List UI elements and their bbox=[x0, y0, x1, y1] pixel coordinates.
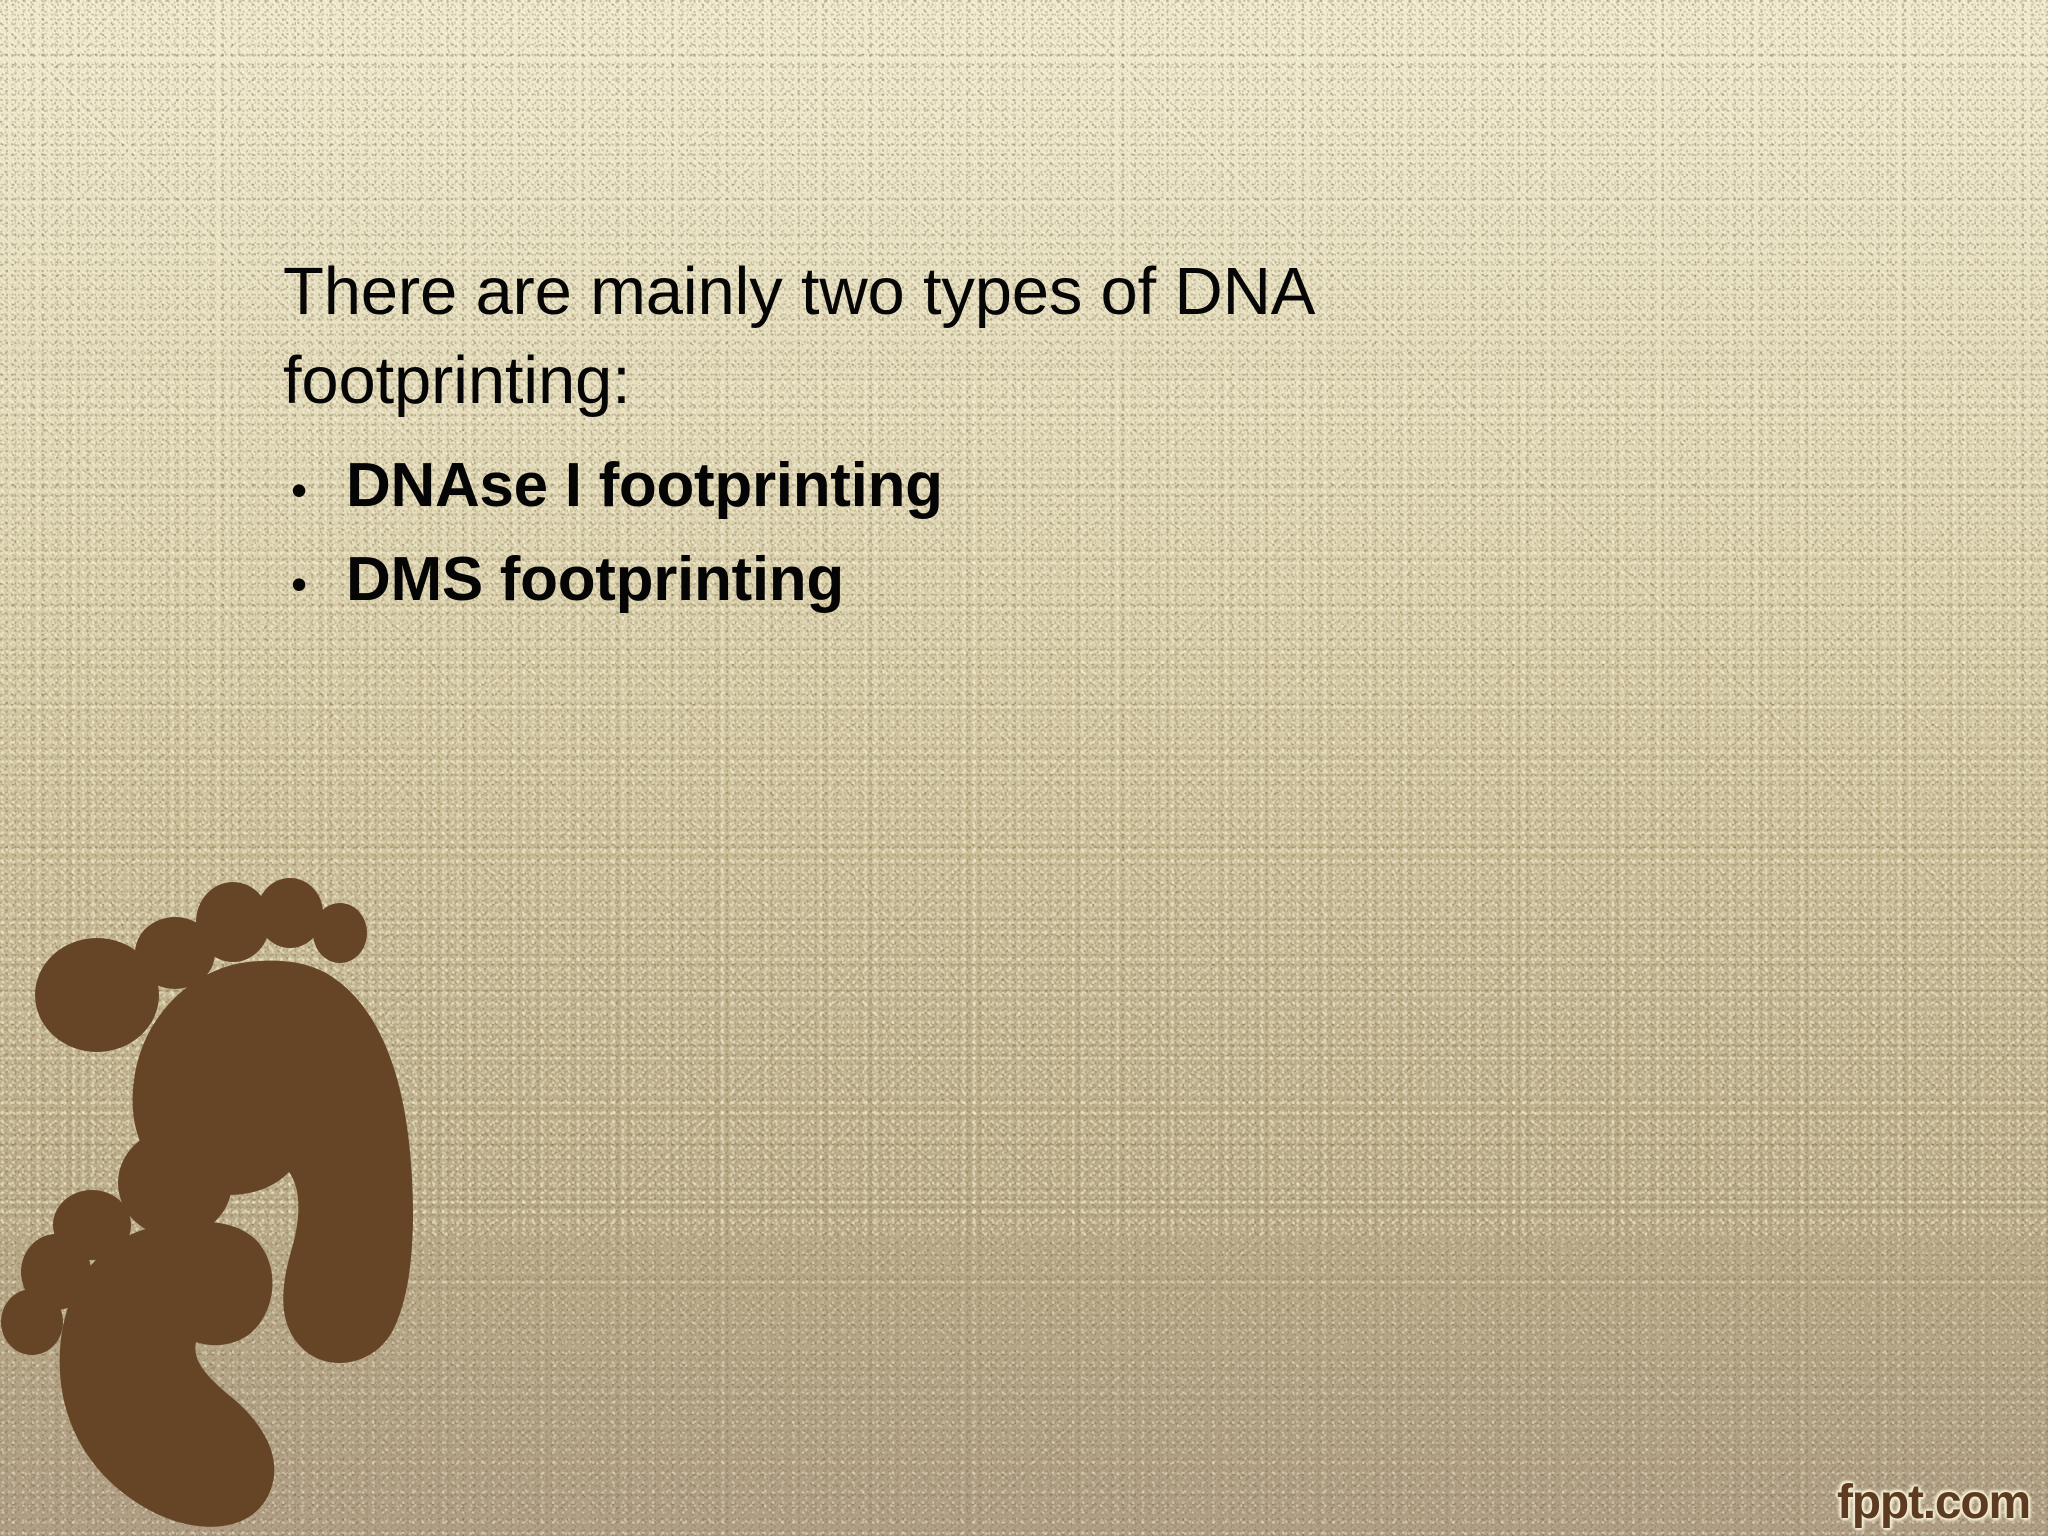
intro-paragraph: There are mainly two types of DNA footpr… bbox=[283, 247, 1403, 425]
fppt-watermark: fppt.com bbox=[1837, 1475, 2030, 1530]
bullet-marker-icon: • bbox=[283, 467, 346, 513]
bullet-item-dms: • DMS footprinting bbox=[283, 533, 1763, 627]
bullet-item-dnase-i: • DNAse I footprinting bbox=[283, 439, 1763, 533]
bullet-marker-icon: • bbox=[283, 561, 346, 607]
footprints-decoration bbox=[0, 660, 420, 1536]
bullet-label-dms: DMS footprinting bbox=[346, 533, 1763, 627]
slide-content: There are mainly two types of DNA footpr… bbox=[283, 247, 1763, 628]
bullet-list: • DNAse I footprinting • DMS footprintin… bbox=[283, 439, 1763, 627]
presentation-slide: There are mainly two types of DNA footpr… bbox=[0, 0, 2048, 1536]
bullet-label-dnase-i: DNAse I footprinting bbox=[346, 439, 1763, 533]
